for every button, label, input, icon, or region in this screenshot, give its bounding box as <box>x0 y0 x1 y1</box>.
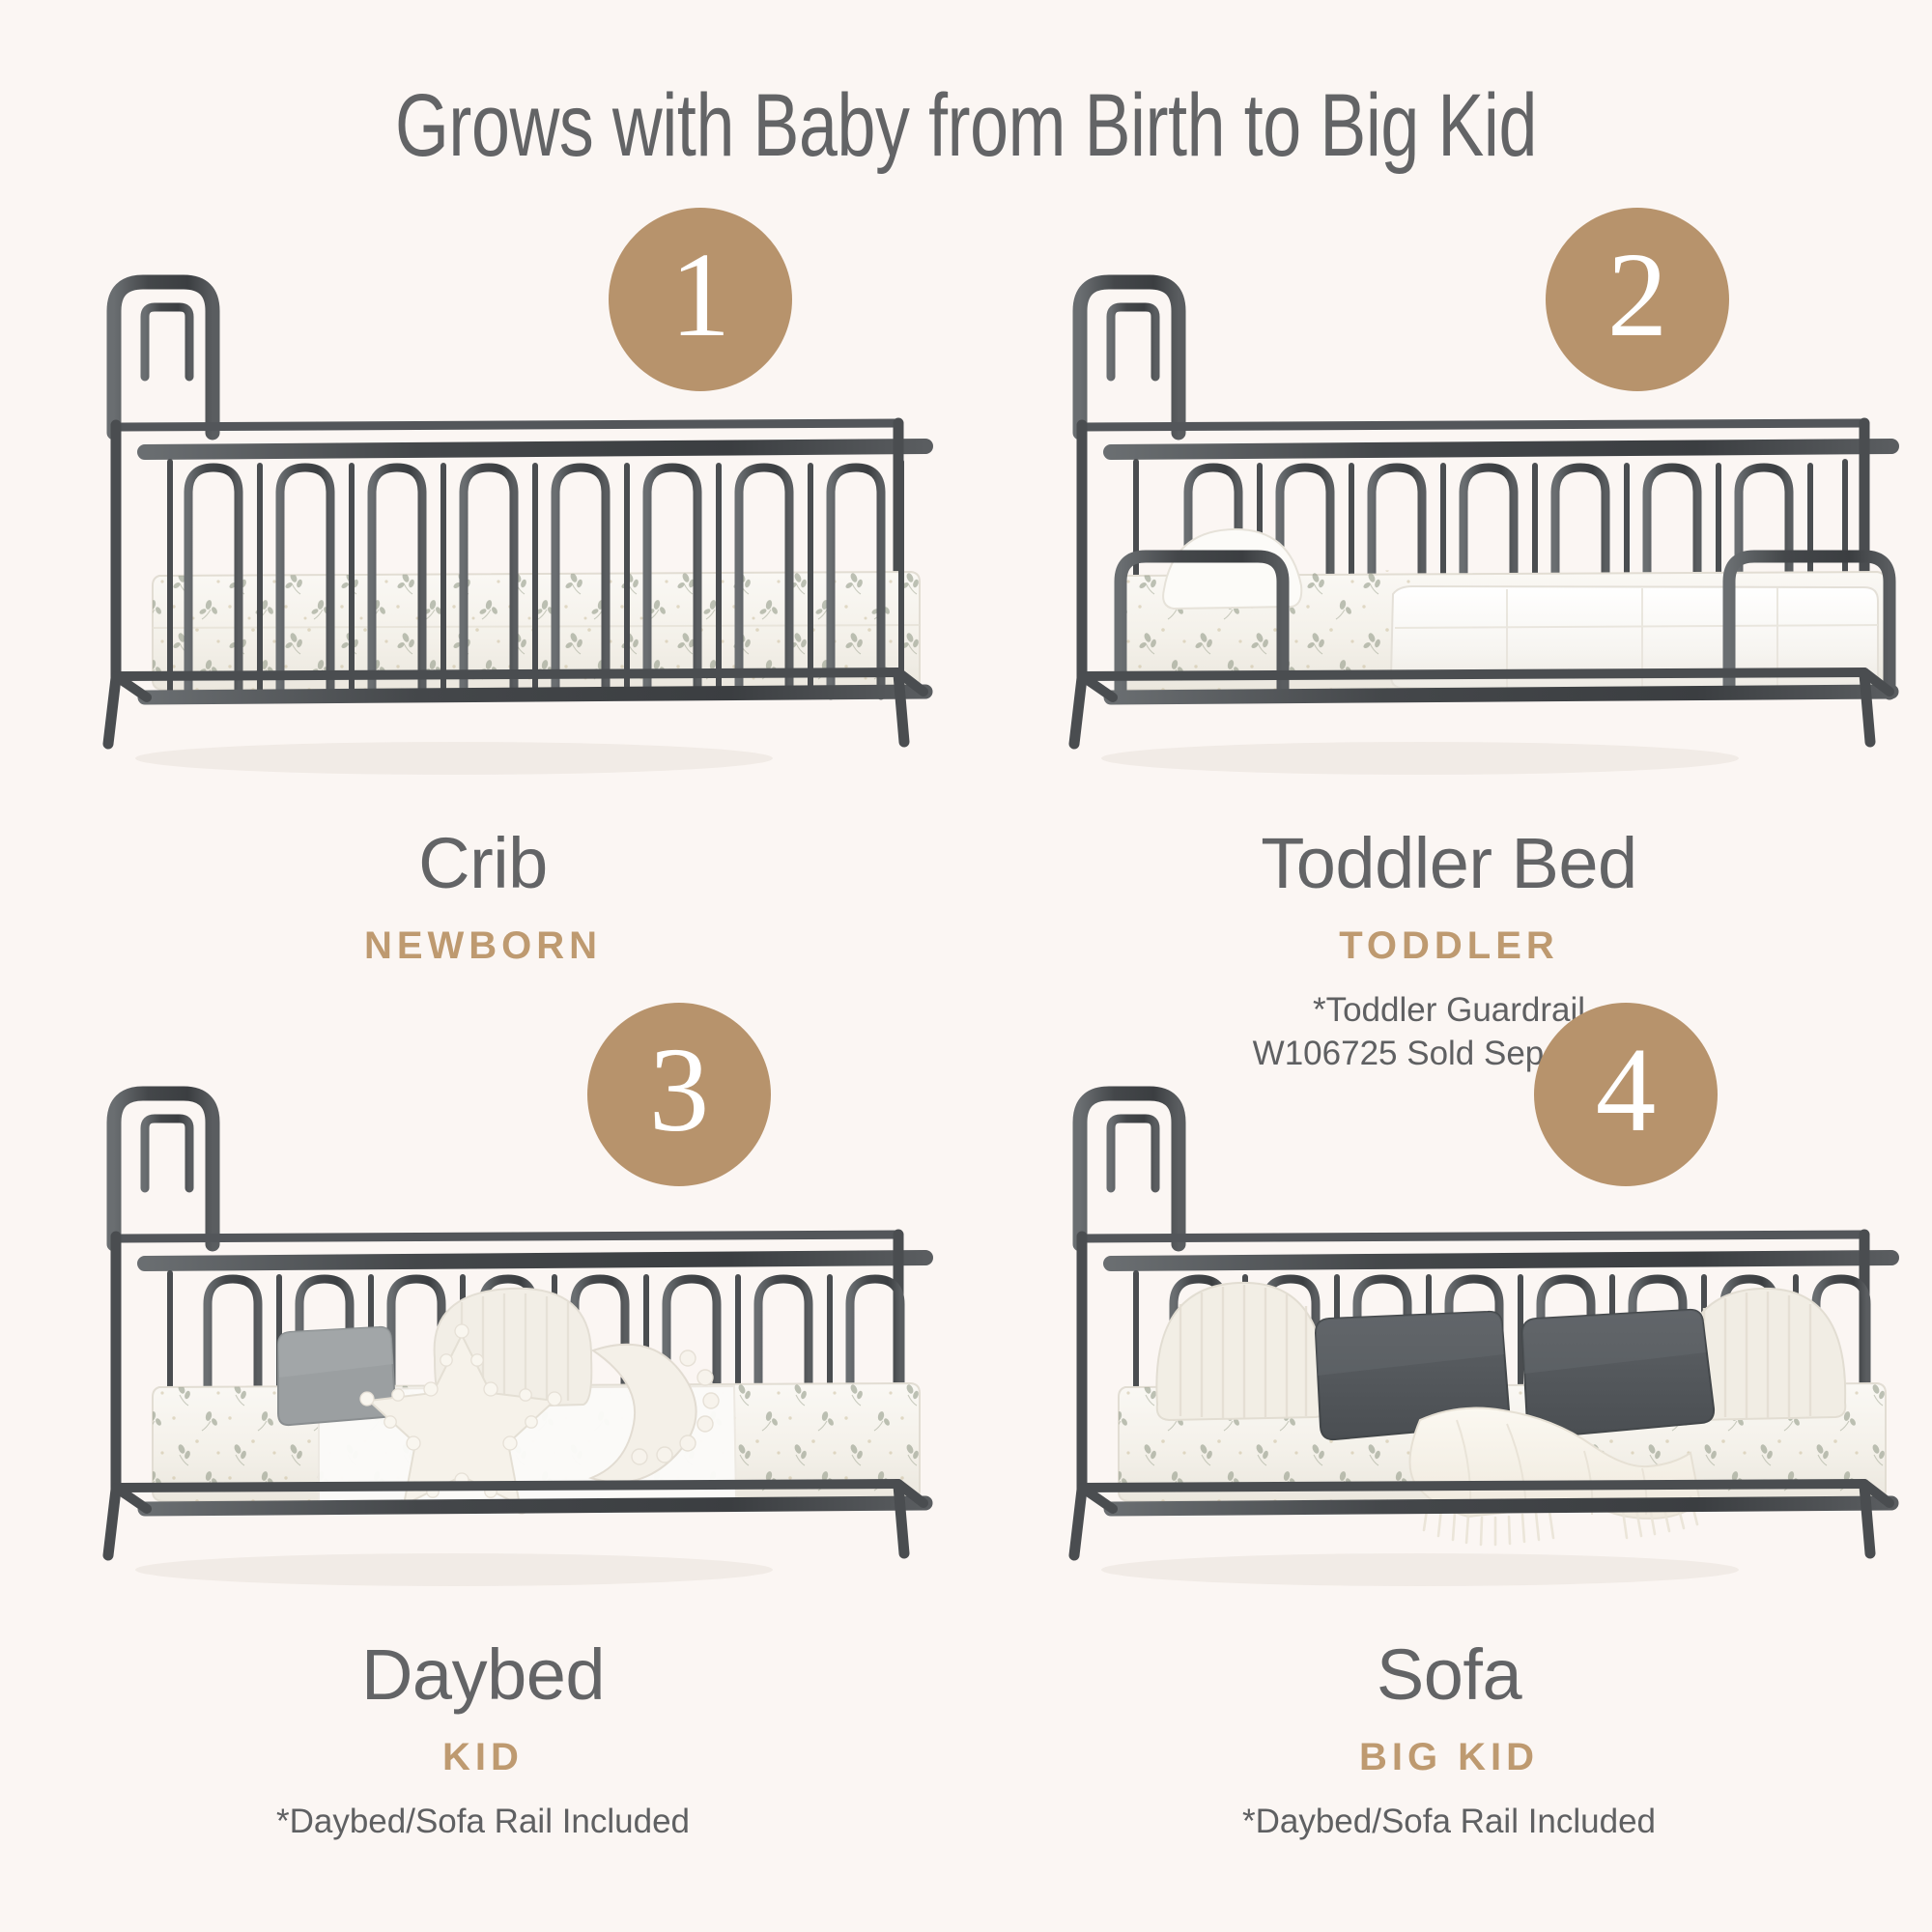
daybed-illustration: 3 <box>0 1014 966 1633</box>
panel-title-toddler-bed: Toddler Bed <box>966 827 1932 899</box>
panel-daybed: 3 Daybed KID *Daybed/Sofa Rail Included <box>0 1014 966 1844</box>
panel-title-daybed: Daybed <box>0 1638 966 1711</box>
note-line-1: *Daybed/Sofa Rail Included <box>0 1801 966 1844</box>
badge-step-1: 1 <box>609 208 792 391</box>
badge-step-2: 2 <box>1546 208 1729 391</box>
toddler-bed-illustration: 2 <box>966 203 1932 821</box>
page-title: Grows with Baby from Birth to Big Kid <box>213 75 1719 177</box>
panel-stage-toddler-bed: TODDLER <box>966 924 1932 968</box>
sofa-labels: Sofa BIG KID *Daybed/Sofa Rail Included <box>966 1638 1932 1844</box>
panel-title-sofa: Sofa <box>966 1638 1932 1711</box>
panel-stage-crib: NEWBORN <box>0 924 966 968</box>
crib-illustration: 1 <box>0 203 966 821</box>
daybed-labels: Daybed KID *Daybed/Sofa Rail Included <box>0 1638 966 1844</box>
panel-note-daybed: *Daybed/Sofa Rail Included <box>0 1801 966 1844</box>
panel-stage-daybed: KID <box>0 1736 966 1779</box>
badge-step-3: 3 <box>587 1003 771 1186</box>
infographic-page: Grows with Baby from Birth to Big Kid <box>0 0 1932 1932</box>
note-line-1: *Daybed/Sofa Rail Included <box>966 1801 1932 1844</box>
panel-stage-sofa: BIG KID <box>966 1736 1932 1779</box>
panel-note-sofa: *Daybed/Sofa Rail Included <box>966 1801 1932 1844</box>
panel-toddler-bed: 2 Toddler Bed TODDLER *Toddler Guardrail… <box>966 203 1932 1076</box>
panel-sofa: 4 Sofa BIG KID *Daybed/Sofa Rail Include… <box>966 1014 1932 1844</box>
badge-step-4: 4 <box>1534 1003 1718 1186</box>
panel-crib: 1 Crib NEWBORN <box>0 203 966 968</box>
sofa-illustration: 4 <box>966 1014 1932 1633</box>
product-stage-grid: 1 Crib NEWBORN <box>0 203 1932 1932</box>
panel-title-crib: Crib <box>0 827 966 899</box>
crib-labels: Crib NEWBORN <box>0 827 966 968</box>
